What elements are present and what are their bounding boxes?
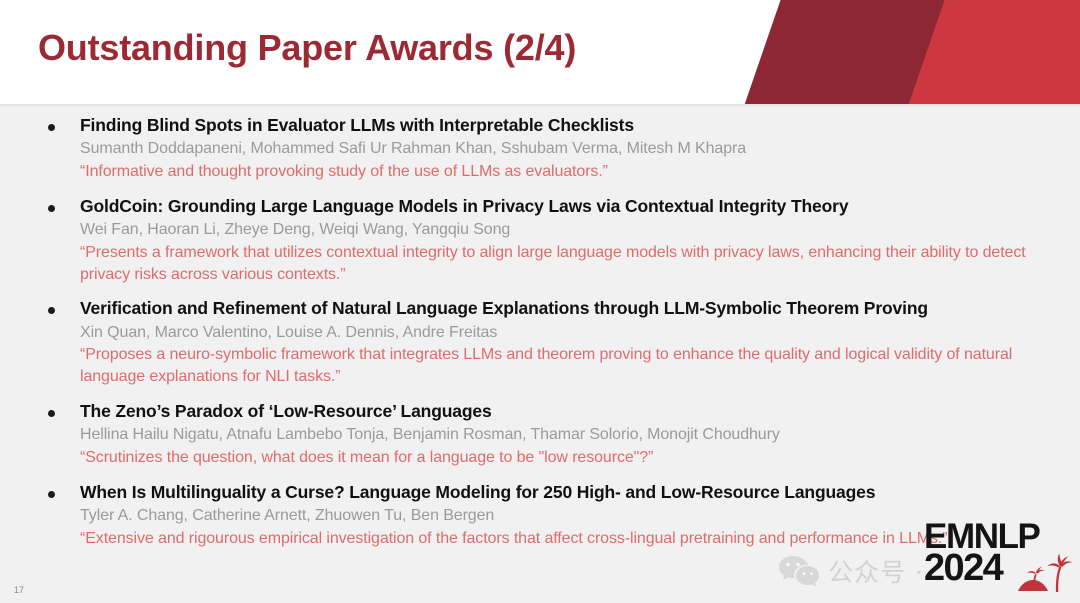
paper-title: Finding Blind Spots in Evaluator LLMs wi… — [80, 114, 1050, 137]
awards-list: Finding Blind Spots in Evaluator LLMs wi… — [0, 106, 1080, 603]
paper-title: Verification and Refinement of Natural L… — [80, 297, 1050, 320]
paper-title: The Zeno’s Paradox of ‘Low-Resource’ Lan… — [80, 400, 1050, 423]
slide-header: Outstanding Paper Awards (2/4) — [0, 0, 1080, 104]
presentation-slide: Outstanding Paper Awards (2/4) Finding B… — [0, 0, 1080, 603]
paper-authors: Tyler A. Chang, Catherine Arnett, Zhuowe… — [80, 505, 1050, 527]
list-item: When Is Multilinguality a Curse? Languag… — [0, 481, 1080, 550]
slide-number: 17 — [14, 585, 24, 595]
list-item: The Zeno’s Paradox of ‘Low-Resource’ Lan… — [0, 400, 1080, 469]
paper-authors: Hellina Hailu Nigatu, Atnafu Lambebo Ton… — [80, 424, 1050, 446]
bullet-icon — [48, 307, 55, 314]
paper-citation-quote: “Scrutinizes the question, what does it … — [80, 447, 1050, 469]
list-item: GoldCoin: Grounding Large Language Model… — [0, 195, 1080, 286]
list-item: Verification and Refinement of Natural L… — [0, 297, 1080, 388]
bullet-icon — [48, 491, 55, 498]
page-title: Outstanding Paper Awards (2/4) — [38, 27, 576, 69]
paper-title: When Is Multilinguality a Curse? Languag… — [80, 481, 1050, 504]
paper-authors: Wei Fan, Haoran Li, Zheye Deng, Weiqi Wa… — [80, 219, 1050, 241]
list-item: Finding Blind Spots in Evaluator LLMs wi… — [0, 114, 1080, 183]
paper-citation-quote: “Proposes a neuro-symbolic framework tha… — [80, 344, 1050, 388]
bullet-icon — [48, 410, 55, 417]
bullet-icon — [48, 124, 55, 131]
paper-authors: Xin Quan, Marco Valentino, Louise A. Den… — [80, 322, 1050, 344]
paper-citation-quote: “Presents a framework that utilizes cont… — [80, 242, 1050, 286]
paper-citation-quote: “Extensive and rigourous empirical inves… — [80, 528, 1050, 550]
bullet-icon — [48, 205, 55, 212]
paper-citation-quote: “Informative and thought provoking study… — [80, 161, 1050, 183]
paper-authors: Sumanth Doddapaneni, Mohammed Safi Ur Ra… — [80, 138, 1050, 160]
paper-title: GoldCoin: Grounding Large Language Model… — [80, 195, 1050, 218]
